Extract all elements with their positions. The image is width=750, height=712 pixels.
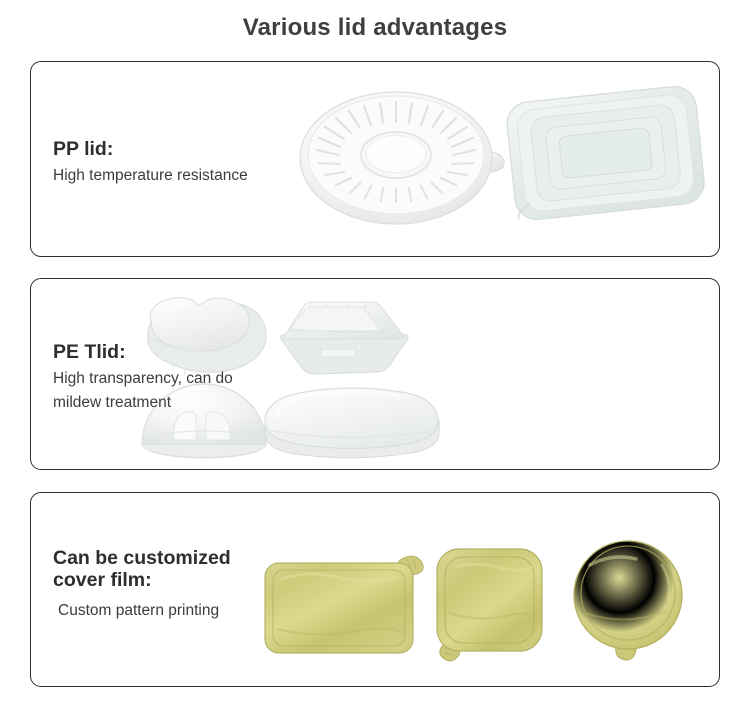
oval-flat-pe-lid	[259, 384, 444, 462]
panel-pp-text-block: PP lid: High temperature resistance	[53, 138, 248, 188]
page-title: Various lid advantages	[0, 0, 750, 48]
panel-pe-lid: PE Tlid: High transparency, can do milde…	[30, 278, 720, 470]
panel-pp-description: High temperature resistance	[53, 164, 248, 188]
panel-pp-lid: PP lid: High temperature resistance	[30, 61, 720, 257]
round-ribbed-pp-lid	[296, 78, 516, 238]
panel-film-text-block: Can be customized cover film: Custom pat…	[53, 547, 231, 623]
panel-pp-heading: PP lid:	[53, 138, 248, 160]
square-gold-cover-film	[429, 541, 554, 666]
panel-pe-description: High transparency, can do mildew treatme…	[53, 367, 283, 415]
rectangular-pp-lid	[501, 76, 711, 241]
panel-pe-text-block: PE Tlid: High transparency, can do milde…	[53, 341, 283, 415]
panel-cover-film: Can be customized cover film: Custom pat…	[30, 492, 720, 687]
panel-pe-heading: PE Tlid:	[53, 341, 283, 363]
rectangular-gold-cover-film	[259, 545, 434, 660]
panel-film-description: Custom pattern printing	[53, 595, 231, 623]
square-pe-lid	[273, 285, 413, 385]
circular-gold-cover-film	[566, 535, 696, 667]
panel-film-heading: Can be customized cover film:	[53, 547, 231, 591]
